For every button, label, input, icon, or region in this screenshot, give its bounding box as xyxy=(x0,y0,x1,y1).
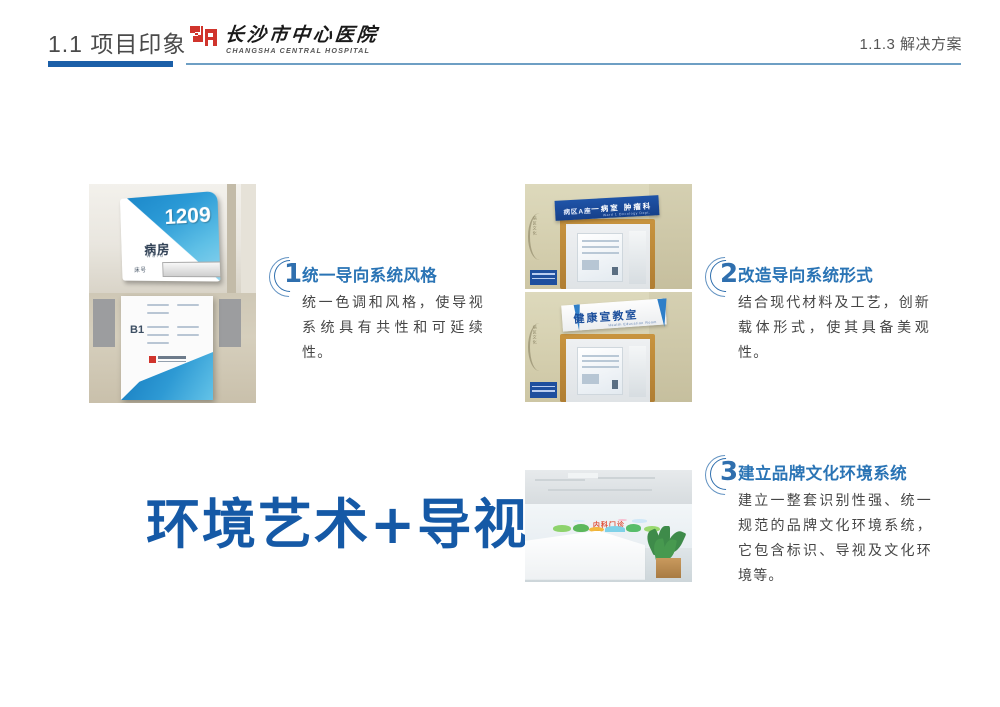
item-1-body: 统一色调和风格，使导视系统具有共性和可延续性。 xyxy=(302,291,484,366)
notice-block xyxy=(582,374,599,384)
ward-bed-plate xyxy=(162,261,220,277)
directory-text-line xyxy=(147,312,169,314)
big-title: 环境艺术+导视 xyxy=(146,480,529,559)
directory-text-line xyxy=(177,326,199,328)
photo-ward-sign-upper: 1209 病房 Ward 床号 xyxy=(89,184,256,293)
corridor-wall-plate xyxy=(530,382,557,397)
corridor-scene: 病区文化 健康宣教室 Health Education R xyxy=(525,292,692,402)
directory-text-line xyxy=(177,334,199,336)
directory-text-line xyxy=(147,304,169,306)
page-title: 1.1 项目印象 xyxy=(48,25,186,59)
notice-line xyxy=(582,240,619,242)
wall-plate-line xyxy=(532,273,554,275)
mural-tree xyxy=(573,524,589,532)
wall-panel xyxy=(241,184,256,293)
ward-room-number: 1209 xyxy=(164,203,211,230)
mural-cloud xyxy=(573,520,585,523)
directory-logo-mark xyxy=(149,356,156,363)
corridor-wall-plate xyxy=(530,270,557,285)
directory-text-line xyxy=(147,342,169,344)
mural-tree xyxy=(626,524,641,532)
header-subsection-label: 1.1.3 解决方案 xyxy=(859,33,962,54)
door-frame xyxy=(560,334,655,402)
clinic-ceiling xyxy=(525,470,692,504)
hospital-logo: 长沙市中心医院 CHANGSHA CENTRAL HOSPITAL xyxy=(189,22,349,62)
ward-door-header-sign: 病区A座 一病室 肿瘤科 Ward 1 Oncology Dept. xyxy=(555,195,659,221)
hospital-name-cn: 长沙市中心医院 xyxy=(224,20,381,47)
wall-block-right xyxy=(219,299,241,347)
photo-ward-sign: 1209 病房 Ward 床号 B1 xyxy=(89,184,256,403)
notice-line xyxy=(582,355,619,357)
directory-level-label: B1 xyxy=(130,324,144,336)
wall-plate-line xyxy=(532,278,554,280)
notice-block xyxy=(582,260,599,270)
item-3-number: 3 xyxy=(720,455,738,489)
door-side-panel xyxy=(629,346,646,397)
directory-text-line xyxy=(147,334,169,336)
notice-line xyxy=(582,360,619,362)
directory-hospital-logo xyxy=(149,356,187,364)
door-frame xyxy=(560,219,655,289)
directory-sign-panel: B1 xyxy=(121,296,213,400)
hospital-logo-mark xyxy=(189,24,219,49)
wall-block-left xyxy=(93,299,115,347)
ward-door-sign-text-left: 病区A座 xyxy=(563,204,592,216)
header-rule xyxy=(186,63,961,65)
photo-clinic-reception: 内科门诊 xyxy=(525,470,692,582)
item-2-number: 2 xyxy=(720,257,738,291)
item-2-body: 结合现代材料及工艺，创新载体形式，使其具备美观性。 xyxy=(738,291,930,366)
directory-text-line xyxy=(177,304,199,306)
photo-ward-sign-lower: B1 xyxy=(89,293,256,403)
item-3-heading: 建立品牌文化环境系统 xyxy=(738,460,907,484)
ceiling-light xyxy=(568,473,598,478)
slide-root: 1.1 项目印象 长沙市中心医院 CHANGSHA CENTRAL HOSPIT… xyxy=(0,0,1000,707)
plant-pot xyxy=(656,558,681,578)
wall-plate-line xyxy=(532,390,554,392)
door-notice-board xyxy=(577,233,623,282)
door-side-panel xyxy=(629,231,646,283)
directory-text-line xyxy=(147,326,169,328)
corridor-scene: 病区文化 病区A座 一病室 肿瘤科 Ward 1 Oncology Dep xyxy=(525,184,692,289)
ward-sign-panel: 1209 病房 Ward 床号 xyxy=(120,191,220,282)
notice-qr-icon xyxy=(612,380,618,388)
mural-tree xyxy=(553,525,570,532)
wall-plate-line xyxy=(532,386,554,388)
directory-logo-subname xyxy=(158,361,186,363)
notice-line xyxy=(582,252,619,254)
ceiling-panel-line xyxy=(548,489,652,491)
hospital-name-en: CHANGSHA CENTRAL HOSPITAL xyxy=(226,46,370,55)
notice-qr-icon xyxy=(612,267,618,275)
ward-bed-label: 床号 xyxy=(134,265,147,274)
photo-health-education-room: 病区文化 健康宣教室 Health Education R xyxy=(525,292,692,402)
item-1-heading: 统一导向系统风格 xyxy=(302,262,437,286)
notice-line xyxy=(582,366,619,368)
clinic-potted-plant xyxy=(645,526,688,578)
mural-rainbow xyxy=(605,526,625,532)
item-2-heading: 改造导向系统形式 xyxy=(738,262,873,286)
door-notice-board xyxy=(577,347,623,395)
notice-line xyxy=(582,246,619,248)
directory-logo-name xyxy=(158,356,186,359)
photo-ward-door-sign: 病区文化 病区A座 一病室 肿瘤科 Ward 1 Oncology Dep xyxy=(525,184,692,289)
ward-room-name-en: Ward xyxy=(146,253,164,259)
ceiling-panel-line xyxy=(535,479,585,481)
ceiling-panel-line xyxy=(598,477,655,479)
slide-header: 1.1 项目印象 长沙市中心医院 CHANGSHA CENTRAL HOSPIT… xyxy=(0,0,1000,80)
item-1-number: 1 xyxy=(284,257,302,291)
item-3-body: 建立一整套识别性强、统一规范的品牌文化环境系统，它包含标识、导视及文化环境等。 xyxy=(738,489,932,589)
mural-cloud xyxy=(632,519,647,522)
door-inner xyxy=(566,339,650,402)
title-accent-bar xyxy=(48,61,173,67)
wall-column xyxy=(227,184,236,293)
corridor-wall-arc-text: 病区文化 xyxy=(532,325,538,345)
corridor-wall-arc-text: 病区文化 xyxy=(532,216,538,236)
door-inner xyxy=(566,224,650,289)
